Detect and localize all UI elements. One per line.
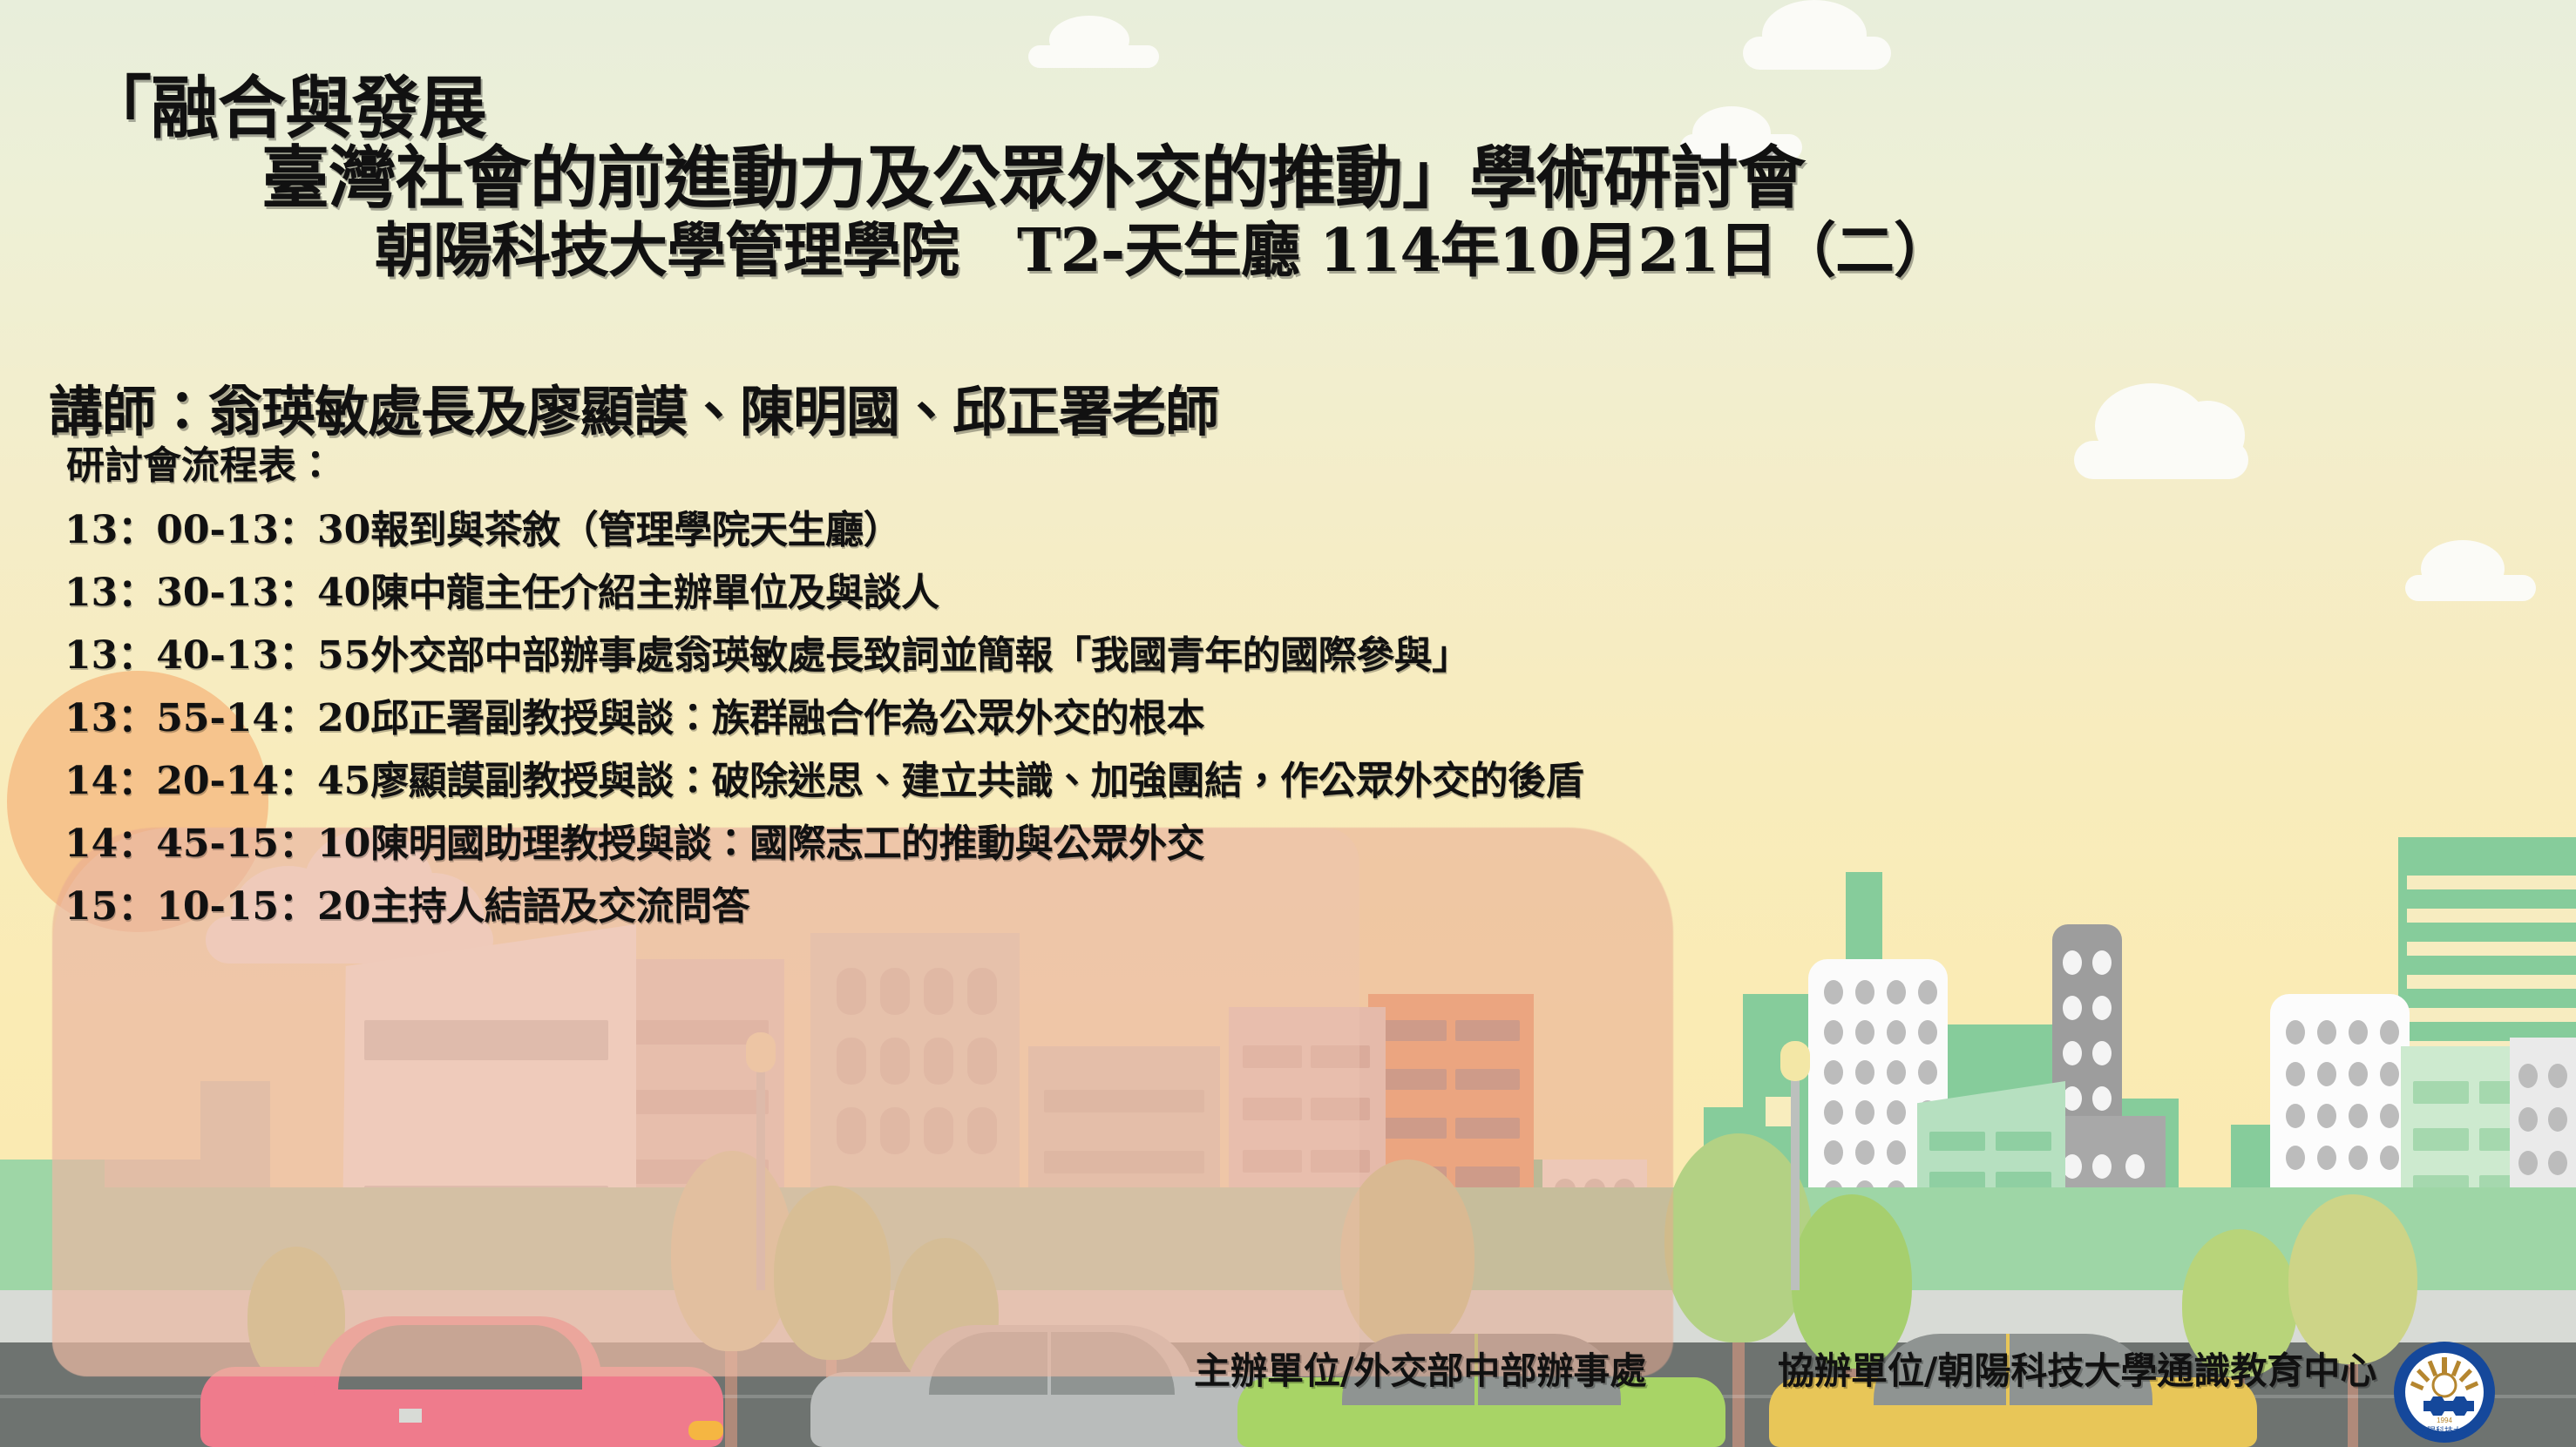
agenda-desc: 報到與茶敘（管理學院天生廳） — [370, 498, 901, 554]
agenda-row: 14：20-14：45 廖顯謨副教授與談：破除迷思、建立共識、加強團結，作公眾外… — [64, 749, 1583, 805]
logo-name-zh: 朝陽科技大學 — [2418, 1425, 2471, 1437]
footer-coorganizer: 協辦單位/朝陽科技大學通識教育中心 — [1778, 1342, 2376, 1395]
agenda-time: 13：55-14：20 — [64, 686, 370, 742]
agenda-desc: 外交部中部辦事處翁瑛敏處長致詞並簡報「我國青年的國際參與」 — [370, 624, 1470, 680]
agenda-desc: 陳明國助理教授與談：國際志工的推動與公眾外交 — [370, 812, 1204, 868]
footer-organizer: 主辦單位/外交部中部辦事處 — [1194, 1342, 1646, 1395]
agenda-time: 14：45-15：10 — [64, 812, 370, 868]
logo-year: 1994 — [2437, 1417, 2452, 1424]
street-lamp-icon — [1791, 1072, 1800, 1290]
agenda-row: 14：45-15：10 陳明國助理教授與談：國際志工的推動與公眾外交 — [64, 812, 1583, 868]
agenda-time: 14：20-14：45 — [64, 749, 370, 805]
agenda-desc: 廖顯謨副教授與談：破除迷思、建立共識、加強團結，作公眾外交的後盾 — [370, 749, 1583, 805]
cloud-icon-top-center — [1028, 16, 1159, 68]
agenda-time: 13：00-13：30 — [64, 498, 370, 554]
agenda-time: 13：40-13：55 — [64, 624, 370, 680]
agenda-desc: 陳中龍主任介紹主辦單位及與談人 — [370, 561, 939, 617]
cloud-icon-top-right — [1743, 0, 1891, 70]
agenda-row: 13：00-13：30 報到與茶敘（管理學院天生廳） — [64, 498, 1583, 554]
agenda-time: 15：10-15：20 — [64, 875, 370, 930]
agenda-row: 13：40-13：55 外交部中部辦事處翁瑛敏處長致詞並簡報「我國青年的國際參與… — [64, 624, 1583, 680]
cloud-icon-behind-venue — [2074, 383, 2248, 479]
street-lamp-icon — [1780, 1041, 1810, 1081]
poster-canvas: 「融合與發展 臺灣社會的前進動力及公眾外交的推動」學術研討會 朝陽科技大學管理學… — [0, 0, 2576, 1447]
agenda-desc: 主持人結語及交流問答 — [370, 875, 749, 930]
agenda-desc: 邱正署副教授與談：族群融合作為公眾外交的根本 — [370, 686, 1204, 742]
agenda-row: 13：55-14：20 邱正署副教授與談：族群融合作為公眾外交的根本 — [64, 686, 1583, 742]
agenda-row: 13：30-13：40 陳中龍主任介紹主辦單位及與談人 — [64, 561, 1583, 617]
agenda-block: 研討會流程表： 13：00-13：30 報到與茶敘（管理學院天生廳） 13：30… — [64, 434, 1583, 937]
chaoyang-university-logo: 1994 朝陽科技大學 — [2392, 1340, 2497, 1444]
agenda-row: 15：10-15：20 主持人結語及交流問答 — [64, 875, 1583, 930]
agenda-time: 13：30-13：40 — [64, 561, 370, 617]
agenda-heading: 研討會流程表： — [66, 434, 1583, 490]
venue-datetime-line: 朝陽科技大學管理學院 T2-天生廳 114年10月21日（二） — [375, 202, 1952, 288]
